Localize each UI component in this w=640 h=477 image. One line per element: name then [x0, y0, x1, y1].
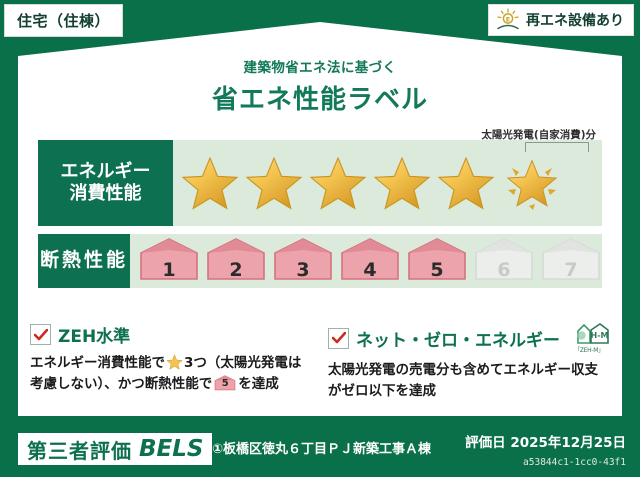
- grade-number: 6: [497, 259, 510, 281]
- bels-badge: 第三者評価 BELS: [18, 433, 212, 465]
- criterion-zeh-body: エネルギー消費性能で3つ（太陽光発電は考慮しない）、かつ断熱性能で5を達成: [30, 353, 312, 396]
- grade-number: 1: [162, 259, 175, 281]
- insulation-label: 断熱性能: [40, 249, 128, 273]
- renewable-equipment-badge: E 再エネ設備あり: [488, 4, 634, 36]
- star-filled: [243, 152, 305, 214]
- energy-performance-row: エネルギー 消費性能: [38, 140, 602, 226]
- star-filled: [371, 152, 433, 214]
- star-solar-sparkle: [499, 152, 565, 214]
- insulation-grade-5: 5: [406, 237, 468, 285]
- renewable-equipment-label: 再エネ設備あり: [526, 10, 624, 30]
- solar-bracket: [525, 142, 589, 152]
- insulation-grade-3: 3: [272, 237, 334, 285]
- zeh-m-logo-text: H-M: [591, 331, 609, 340]
- star-icon: [309, 155, 367, 211]
- star-filled: [179, 152, 241, 214]
- criteria-section: ZEH水準 エネルギー消費性能で3つ（太陽光発電は考慮しない）、かつ断熱性能で5…: [30, 322, 610, 403]
- svg-text:E: E: [506, 16, 510, 24]
- title-block: 建築物省エネ法に基づく 省エネ性能ラベル: [0, 56, 640, 116]
- insulation-row-label: 断熱性能: [38, 234, 130, 288]
- grade-number: 3: [296, 259, 309, 281]
- grade-number: 7: [564, 259, 577, 281]
- check-icon: [34, 329, 48, 341]
- sun-icon: E: [495, 8, 521, 32]
- insulation-performance-row: 断熱性能 1: [38, 234, 602, 288]
- criterion-net-zero-header: ネット・ゼロ・エネルギー H-M 「ZEH-M」: [328, 322, 610, 354]
- zeh-m-logo-caption: 「ZEH-M」: [574, 345, 604, 354]
- zeh-m-house-icon: H-M: [569, 322, 609, 346]
- inline-house-badge: 5: [214, 375, 236, 392]
- house-type-badge: 住宅（住棟）: [4, 4, 123, 37]
- bels-en-label: BELS: [139, 436, 203, 462]
- energy-label-line1: エネルギー: [61, 161, 151, 184]
- sparkle-icon: [499, 152, 565, 214]
- insulation-grade-1: 1: [138, 237, 200, 285]
- criterion-zeh-text-post: を達成: [238, 376, 279, 392]
- star-icon: [166, 354, 183, 370]
- star-icon: [437, 155, 495, 211]
- grade-number: 5: [430, 259, 443, 281]
- star-rating: [179, 152, 565, 214]
- grade-number: 2: [229, 259, 242, 281]
- energy-row-label: エネルギー 消費性能: [38, 140, 173, 226]
- footer: 第三者評価 BELS ①板橋区徳丸６丁目ＰＪ新築工事Ａ棟 評価日 2025年12…: [0, 419, 640, 477]
- property-address: ①板橋区徳丸６丁目ＰＪ新築工事Ａ棟: [212, 438, 431, 457]
- checkbox-net-zero: [328, 328, 349, 349]
- insulation-grade-2: 2: [205, 237, 267, 285]
- star-icon: [373, 155, 431, 211]
- energy-row-body: 太陽光発電(自家消費)分: [173, 140, 602, 226]
- energy-label-line2: 消費性能: [70, 183, 142, 206]
- criterion-net-zero-body: 太陽光発電の売電分も含めてエネルギー収支がゼロ以下を達成: [328, 360, 610, 403]
- star-icon: [181, 155, 239, 211]
- star-filled: [307, 152, 369, 214]
- criterion-zeh-header: ZEH水準: [30, 322, 312, 347]
- insulation-grade-6: 6: [473, 237, 535, 285]
- criterion-net-zero-title: ネット・ゼロ・エネルギー: [356, 326, 560, 351]
- energy-performance-label: 住宅（住棟） E 再エネ設備あり 建築物省エネ法に基づく 省エネ性能ラベル エネ…: [0, 0, 640, 477]
- house-type-label: 住宅（住棟）: [17, 10, 110, 31]
- checkbox-zeh: [30, 324, 51, 345]
- criterion-zeh-title: ZEH水準: [58, 322, 130, 347]
- insulation-row-body: 1 2 3: [130, 234, 602, 288]
- grade-number: 4: [363, 259, 376, 281]
- criterion-zeh: ZEH水準 エネルギー消費性能で3つ（太陽光発電は考慮しない）、かつ断熱性能で5…: [30, 322, 312, 403]
- bels-jp-label: 第三者評価: [27, 435, 132, 464]
- star-icon: [245, 155, 303, 211]
- inline-house-number: 5: [214, 375, 236, 392]
- check-icon: [332, 332, 346, 344]
- insulation-grade-7: 7: [540, 237, 602, 285]
- title-main: 省エネ性能ラベル: [0, 79, 640, 116]
- performance-section: エネルギー 消費性能: [38, 140, 602, 296]
- zeh-m-logo: H-M 「ZEH-M」: [569, 322, 609, 354]
- insulation-grade-scale: 1 2 3: [138, 237, 602, 285]
- solar-caption: 太陽光発電(自家消費)分: [481, 127, 596, 142]
- label-uuid: a53844c1-1cc0-43f1: [523, 457, 626, 468]
- insulation-grade-4: 4: [339, 237, 401, 285]
- star-filled: [435, 152, 497, 214]
- criterion-net-zero: ネット・ゼロ・エネルギー H-M 「ZEH-M」 太陽光発電の売電分も含めてエネ…: [328, 322, 610, 403]
- title-subtitle: 建築物省エネ法に基づく: [0, 56, 640, 76]
- evaluation-date: 評価日 2025年12月25日: [465, 431, 626, 451]
- criterion-zeh-text-pre: エネルギー消費性能で: [30, 355, 165, 371]
